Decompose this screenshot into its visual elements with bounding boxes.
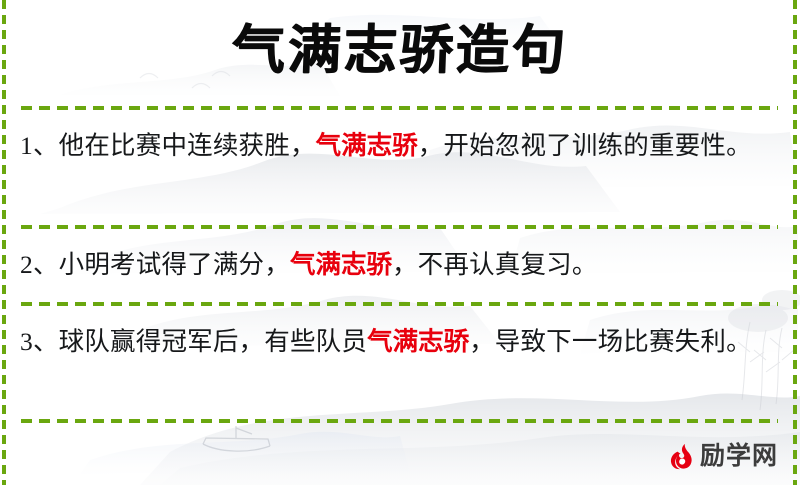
document-page: 气满志骄造句 1、他在比赛中连续获胜，气满志骄，开始忽视了训练的重要性。 2、小… (0, 0, 800, 485)
separator-1 (21, 225, 778, 229)
left-dashed-border (2, 0, 6, 485)
page-title-container: 气满志骄造句 (0, 8, 800, 94)
idiom-highlight-2: 气满志骄 (290, 250, 392, 279)
idiom-highlight-1: 气满志骄 (316, 131, 418, 160)
sentence-after-1: ，开始忽视了训练的重要性。 (418, 131, 752, 160)
sentence-before-2: 小明考试得了满分， (59, 250, 290, 279)
sentence-item-2: 2、小明考试得了满分，气满志骄，不再认真复习。 (20, 241, 774, 289)
site-logo[interactable]: 励学网 (665, 439, 778, 473)
separator-bottom (21, 419, 778, 423)
right-dashed-border (793, 0, 797, 485)
sentence-index-3: 3、 (20, 327, 59, 356)
sentence-index-1: 1、 (20, 131, 59, 160)
page-title: 气满志骄造句 (231, 25, 569, 78)
idiom-highlight-3: 气满志骄 (367, 327, 469, 356)
separator-2 (21, 302, 778, 306)
sentence-before-3: 球队赢得冠军后，有些队员 (59, 327, 367, 356)
sentence-index-2: 2、 (20, 250, 59, 279)
sentence-before-1: 他在比赛中连续获胜， (59, 131, 316, 160)
flame-swirl-icon (665, 441, 696, 472)
sentence-item-3: 3、球队赢得冠军后，有些队员气满志骄，导致下一场比赛失利。 (20, 318, 774, 366)
logo-text: 励学网 (700, 444, 778, 469)
separator-top (21, 106, 778, 110)
sentence-item-1: 1、他在比赛中连续获胜，气满志骄，开始忽视了训练的重要性。 (20, 122, 774, 170)
sentence-after-2: ，不再认真复习。 (392, 250, 598, 279)
sentence-after-3: ，导致下一场比赛失利。 (469, 327, 752, 356)
